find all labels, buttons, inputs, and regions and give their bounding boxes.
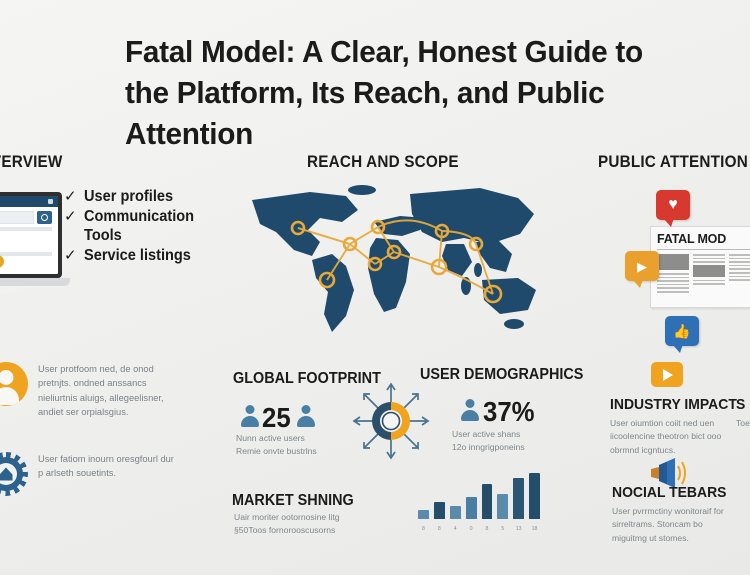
bar-tick-label: 5 <box>497 526 508 532</box>
play-button-icon <box>651 362 683 387</box>
bar <box>466 497 477 519</box>
page-title: Fatal Model: A Clear, Honest Guide to th… <box>125 32 663 155</box>
checklist-label: Communication Tools <box>84 208 207 245</box>
content-band <box>0 227 52 231</box>
bar <box>482 484 493 519</box>
feature-checklist: ✓ User profiles ✓ Communication Tools ✓ … <box>64 188 214 267</box>
bar-tick-label: 18 <box>529 526 540 532</box>
bar-tick-label: 8 <box>482 526 493 532</box>
browser-titlebar <box>0 196 58 207</box>
stat-caption-market-sharing: Uair moriter ootornosine litg §50Toos fo… <box>234 511 384 537</box>
newspaper-column <box>657 254 689 295</box>
user-avatar-icon <box>0 362 28 406</box>
bar-tick-label: 8 <box>418 526 429 532</box>
laptop-illustration <box>0 192 62 292</box>
newspaper-photo <box>657 254 689 270</box>
right-info-block-industry-impact: INDUSTRY IMPACT User oiumtion coiit ned … <box>610 396 730 457</box>
check-icon: ✓ <box>64 208 77 225</box>
user-icon <box>296 405 316 427</box>
bar-tick-label: 4 <box>450 526 461 532</box>
content-band <box>0 252 52 256</box>
newspaper-columns <box>657 254 750 295</box>
user-icon <box>240 405 260 427</box>
user-icon <box>460 399 480 421</box>
newspaper-photo <box>693 265 725 277</box>
bar-tick-label: 8 <box>434 526 445 532</box>
list-item: ✓ Service listings <box>64 247 214 265</box>
world-map-illustration <box>250 182 546 337</box>
service-icon-row <box>0 255 4 268</box>
newspaper-column <box>693 254 725 295</box>
thumbs-up-icon: 👍 <box>673 324 690 338</box>
browser-mockup <box>0 196 58 274</box>
list-item: ✓ User profiles <box>64 188 214 206</box>
stat-header-user-demographics: USER DEMOGRAPHICS <box>420 366 583 384</box>
laptop-screen <box>0 192 62 278</box>
stat-caption-user-demographics: User active shans 12o inngrigponeins <box>452 428 572 454</box>
bar <box>434 502 445 519</box>
check-icon: ✓ <box>64 247 77 264</box>
world-map-svg <box>250 182 546 337</box>
section-header-public-attention: PUBLIC ATTENTION A <box>598 152 750 172</box>
section-header-overview: VERVIEW <box>0 152 63 172</box>
left-info-block-settings: User fatiom inourn oresgfourl dur p arls… <box>0 452 179 496</box>
right-info-block-social-tebars: NOCIAL TEBARS User pvrrmctiny wonitoraif… <box>612 484 737 545</box>
right-info-block-cutoff: S Toe tori <box>736 396 750 430</box>
list-item: ✓ Communication Tools <box>64 208 214 245</box>
bar-chart: 8840851318 <box>418 470 540 532</box>
left-info-text: User protfoom ned, de onod pretnjts. ond… <box>38 362 179 420</box>
checklist-label: Service listings <box>84 247 191 265</box>
play-icon: ▶ <box>637 260 647 273</box>
bar-tick-label: 13 <box>513 526 524 532</box>
thumbs-up-bubble[interactable]: 👍 <box>665 316 699 346</box>
right-block-text: User oiumtion coiit ned uen iicoolencine… <box>610 417 730 457</box>
bar-tick-label: 0 <box>466 526 477 532</box>
newspaper-headline: FATAL MOD <box>657 232 750 246</box>
section-header-reach-and-scope: REACH AND SCOPE <box>307 152 459 172</box>
laptop-base <box>0 278 70 286</box>
right-block-header: INDUSTRY IMPACT <box>610 396 722 413</box>
check-icon: ✓ <box>64 188 77 205</box>
divider <box>657 249 750 250</box>
bar-chart-ticks: 8840851318 <box>418 526 540 532</box>
play-bubble[interactable]: ▶ <box>625 251 659 281</box>
heart-icon: ♥ <box>668 197 678 213</box>
left-info-block-profiles: User protfoom ned, de onod pretnjts. ond… <box>0 362 179 420</box>
bar <box>418 510 429 519</box>
bar <box>450 506 461 519</box>
checklist-label: User profiles <box>84 188 173 206</box>
bar <box>497 494 508 519</box>
right-block-text: Toe tori <box>736 417 750 430</box>
newspaper-illustration: FATAL MOD <box>650 226 750 308</box>
right-block-header: S <box>736 396 750 413</box>
window-control-icon <box>48 199 53 204</box>
right-block-header: NOCIAL TEBARS <box>612 484 728 501</box>
bar <box>513 478 524 519</box>
bar-chart-bars <box>418 471 540 519</box>
left-info-text: User fatiom inourn oresgfourl dur p arls… <box>38 452 179 496</box>
search-icon[interactable] <box>37 211 52 224</box>
stat-value-global-footprint: 25 <box>262 402 291 434</box>
newspaper-column <box>729 254 750 295</box>
stat-value-user-demographics: 37% <box>483 396 535 428</box>
service-icon[interactable] <box>0 255 4 268</box>
infographic-canvas: Fatal Model: A Clear, Honest Guide to th… <box>0 0 750 575</box>
gear-settings-icon <box>0 452 28 496</box>
search-input[interactable] <box>0 211 34 224</box>
network-hub-icon <box>352 382 430 460</box>
right-block-text: User pvrrmctiny wonitoraif for sirreltra… <box>612 505 737 545</box>
heart-bubble[interactable]: ♥ <box>656 190 690 220</box>
stat-header-market-sharing: MARKET SHNING <box>232 492 354 510</box>
bar <box>529 473 540 519</box>
